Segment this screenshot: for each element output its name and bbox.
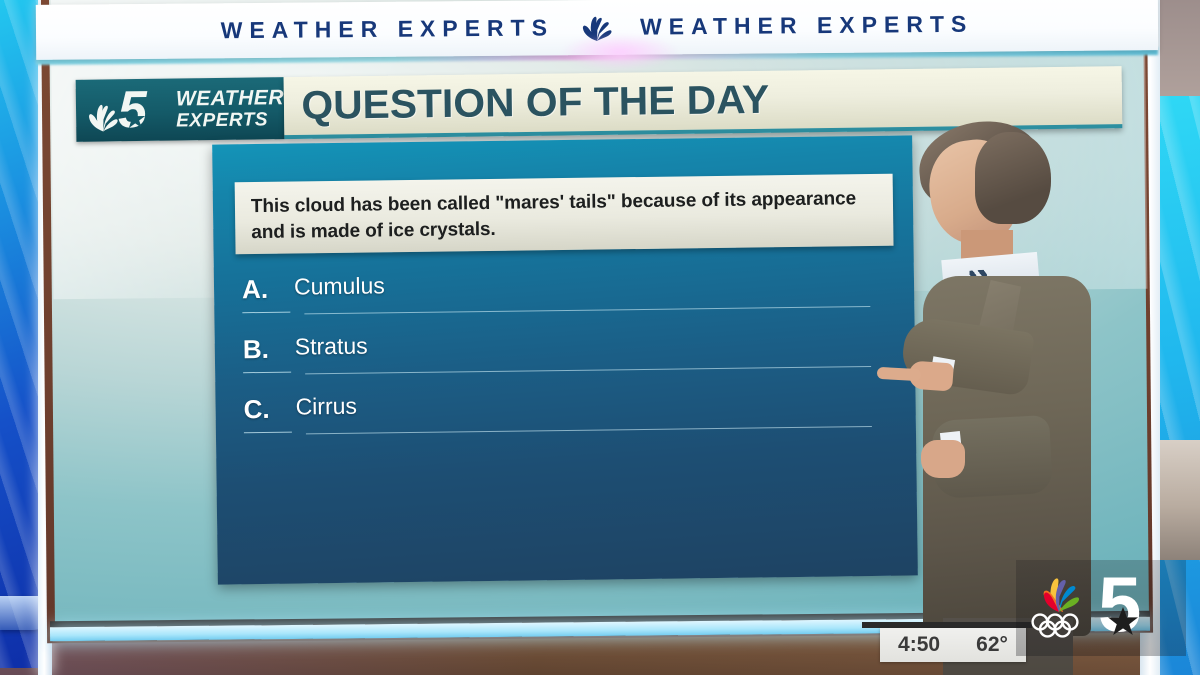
corner-bug-peacock-stack	[1026, 576, 1092, 639]
answer-text: Cumulus	[280, 272, 385, 300]
temperature-reading: 62°	[976, 633, 1008, 657]
corner-bug-number-wrap: 5	[1098, 569, 1172, 645]
answer-options-list: A. Cumulus B. Stratus C. Cirrus	[228, 266, 902, 455]
answer-text-rule	[306, 426, 872, 434]
answer-letter-rule	[244, 432, 292, 434]
answer-option-a[interactable]: A. Cumulus	[228, 266, 901, 335]
presenter-lower-hand	[921, 440, 965, 478]
corner-bug: 5	[1026, 568, 1176, 646]
answer-text: Cirrus	[281, 393, 357, 421]
star-icon	[1106, 605, 1140, 639]
banner-light-flare	[560, 34, 680, 70]
presenter-pointing-finger	[877, 367, 922, 381]
answer-option-c[interactable]: C. Cirrus	[229, 386, 902, 455]
olympic-rings-icon	[1030, 613, 1088, 639]
presenter-hair-back	[975, 132, 1051, 224]
answer-text-rule	[305, 366, 871, 374]
answer-letter-rule	[242, 312, 290, 314]
station-number-wrap: 5	[118, 84, 171, 137]
station-logo-line1: WEATHER	[176, 87, 284, 109]
star-icon	[124, 108, 146, 130]
answer-text: Stratus	[281, 333, 368, 361]
network-banner-right-text: WEATHER EXPERTS	[640, 11, 974, 41]
question-text: This cloud has been called "mares' tails…	[251, 186, 878, 247]
studio-right-upper-wall	[1160, 0, 1200, 100]
answer-letter: A.	[228, 274, 280, 306]
answer-letter: B.	[229, 334, 281, 366]
broadcast-stage: WEATHER EXPERTS WEATHER EXPERTS	[0, 0, 1200, 675]
answer-option-b[interactable]: B. Stratus	[229, 326, 902, 395]
page-title: QUESTION OF THE DAY	[301, 77, 769, 128]
station-logo: 5 WEATHER EXPERTS	[76, 77, 285, 142]
answer-letter-rule	[243, 372, 291, 374]
network-banner-left-text: WEATHER EXPERTS	[221, 14, 555, 44]
clock-time: 4:50	[898, 633, 940, 657]
answer-text-rule	[304, 306, 870, 314]
question-panel: This cloud has been called "mares' tails…	[212, 135, 918, 584]
nbc-peacock-icon	[1034, 576, 1084, 612]
answer-letter: C.	[229, 394, 281, 426]
status-bar: 4:50 62°	[880, 628, 1026, 662]
nbc-peacock-icon	[86, 101, 120, 131]
question-text-box: This cloud has been called "mares' tails…	[235, 174, 894, 255]
station-logo-words: WEATHER EXPERTS	[176, 87, 285, 130]
station-logo-line2: EXPERTS	[176, 110, 284, 130]
